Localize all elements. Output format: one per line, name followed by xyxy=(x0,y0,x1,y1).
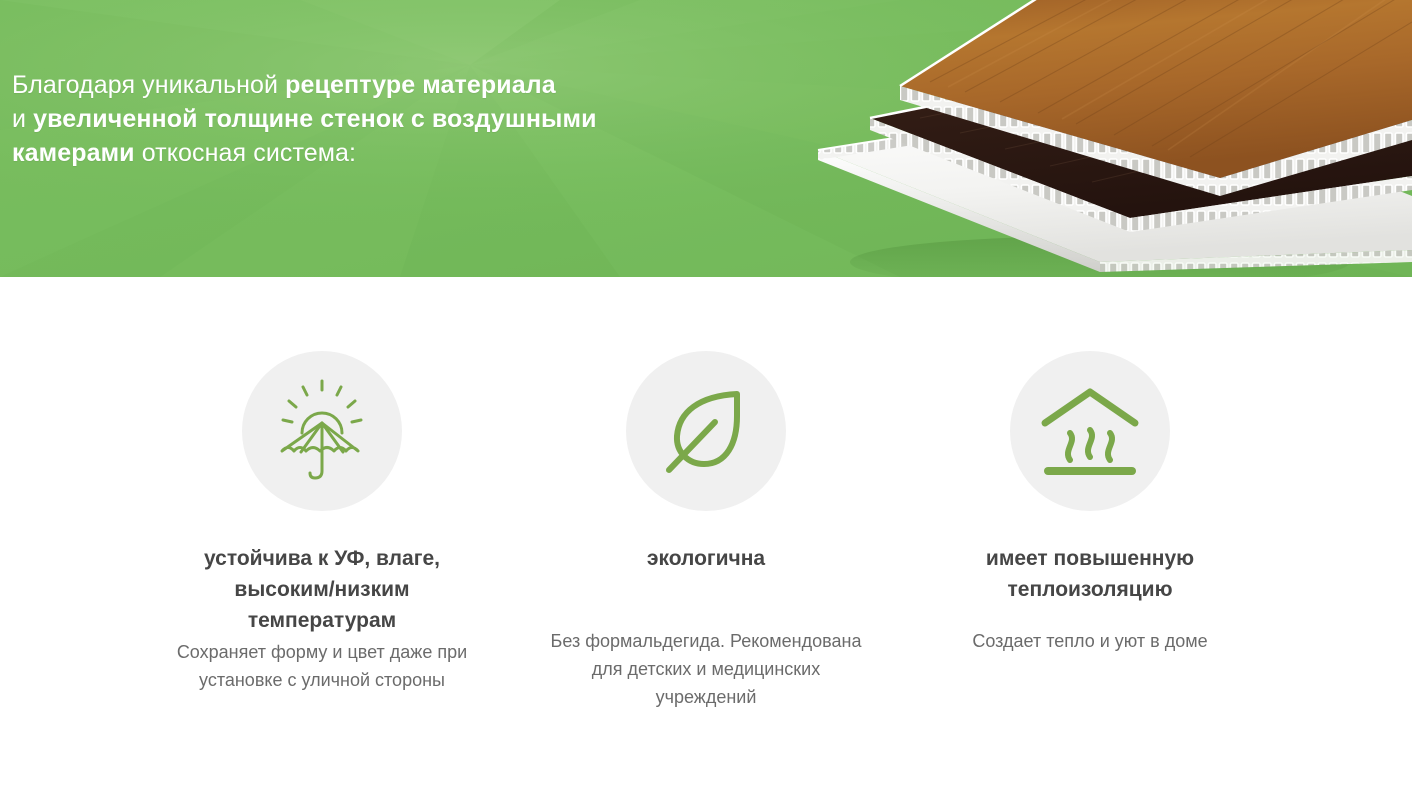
feature-title: имеет повышенную теплоизоляцию xyxy=(940,543,1240,605)
hero-headline-line3-normal: откосная система: xyxy=(135,139,356,167)
features-section: устойчива к УФ, влаге, высоким/низким те… xyxy=(0,277,1412,792)
feature-ecological: экологична Без формальдегида. Рекомендов… xyxy=(514,351,898,711)
hero-headline-line2-bold: увеличенной толщине стенок с воздушными xyxy=(33,105,596,133)
feature-description: Сохраняет форму и цвет даже при установк… xyxy=(157,638,487,694)
feature-description: Без формальдегида. Рекомендована для дет… xyxy=(541,627,871,711)
product-image-pvc-panels xyxy=(800,0,1412,277)
feature-icon-circle xyxy=(626,351,786,511)
feature-icon-circle xyxy=(1010,351,1170,511)
feature-icon-circle xyxy=(242,351,402,511)
hero-headline-line1-normal: Благодаря уникальной xyxy=(12,71,285,99)
feature-title: экологична xyxy=(647,543,765,574)
hero-banner: Благодаря уникальной рецептуре материала… xyxy=(0,0,1412,277)
hero-headline: Благодаря уникальной рецептуре материала… xyxy=(12,68,692,170)
leaf-icon xyxy=(657,382,755,480)
feature-uv-moisture-temperature: устойчива к УФ, влаге, высоким/низким те… xyxy=(130,351,514,694)
feature-thermal-insulation: имеет повышенную теплоизоляцию Создает т… xyxy=(898,351,1282,655)
umbrella-sun-icon xyxy=(274,379,370,483)
feature-title: устойчива к УФ, влаге, высоким/низким те… xyxy=(172,543,472,636)
hero-headline-line1-bold: рецептуре материала xyxy=(285,71,556,99)
hero-headline-line2-normal: и xyxy=(12,105,33,133)
hero-headline-line3-bold: камерами xyxy=(12,139,135,167)
house-heat-insulation-icon xyxy=(1040,385,1140,477)
feature-description: Создает тепло и уют в доме xyxy=(972,627,1207,655)
